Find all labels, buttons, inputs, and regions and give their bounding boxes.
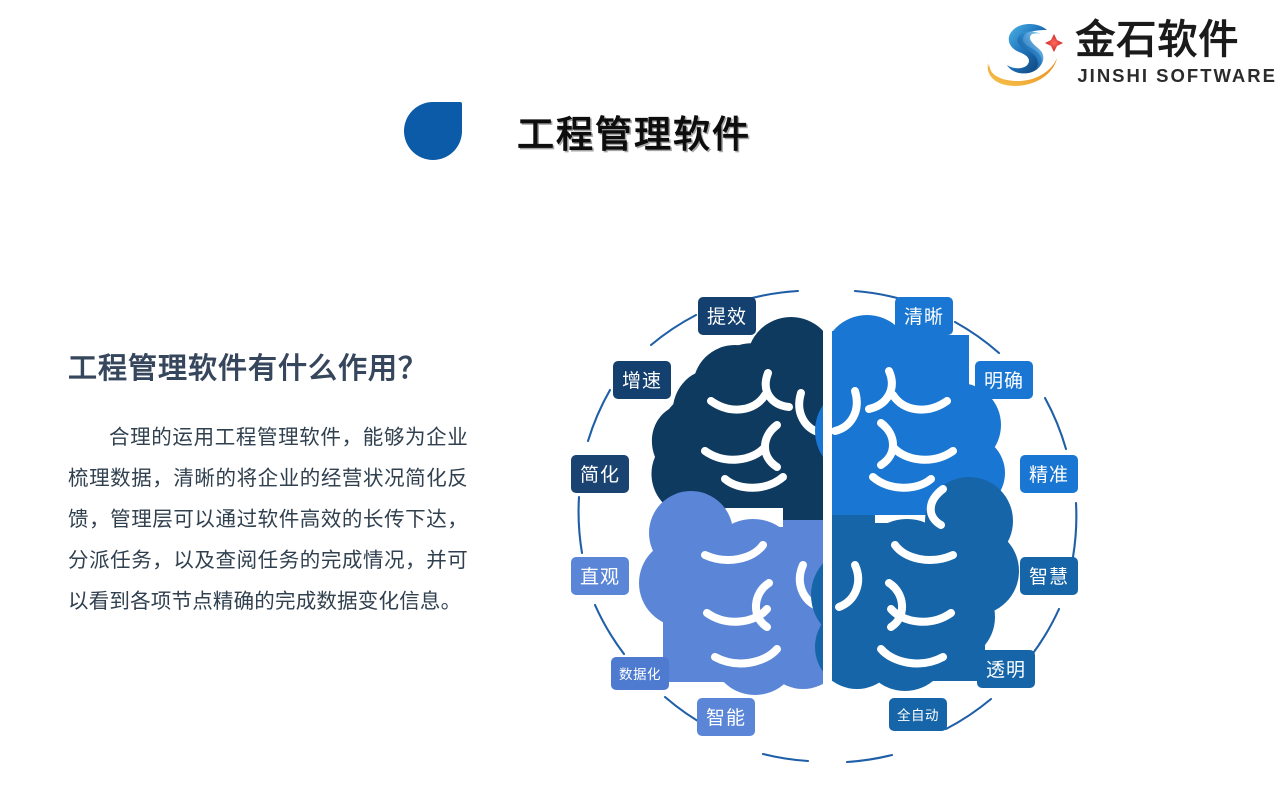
diagram-node-quanzidong[interactable]: 全自动 (889, 698, 947, 731)
copy-block: 工程管理软件有什么作用？ 合理的运用工程管理软件，能够为企业梳理数据，清晰的将企… (68, 345, 468, 622)
diagram-node-zengsu[interactable]: 增速 (613, 361, 671, 399)
diagram-node-shujuhua[interactable]: 数据化 (611, 657, 669, 690)
page-title-row: 工程管理软件 (404, 102, 751, 160)
brain-benefits-diagram: 提效 增速 简化 直观 数据化 智能 清晰 明确 精准 智慧 透明 全自动 (555, 265, 1100, 785)
section-body: 合理的运用工程管理软件，能够为企业梳理数据，清晰的将企业的经营状况简化反馈，管理… (68, 417, 468, 622)
diagram-node-qingxi[interactable]: 清晰 (895, 297, 953, 335)
diagram-node-zhihui[interactable]: 智慧 (1020, 557, 1078, 595)
diagram-node-mingque[interactable]: 明确 (975, 361, 1033, 399)
brand-name-en: JINSHI SOFTWARE (1077, 67, 1277, 86)
brain-icon (639, 315, 1019, 695)
diagram-node-tixiao[interactable]: 提效 (698, 297, 756, 335)
teardrop-blob-icon (404, 102, 462, 160)
diagram-node-zhiguan[interactable]: 直观 (571, 557, 629, 595)
diagram-node-jingzhun[interactable]: 精准 (1020, 455, 1078, 493)
section-heading: 工程管理软件有什么作用？ (68, 345, 468, 387)
brand-name-cn: 金石软件 (1075, 20, 1239, 60)
brain-diagram-svg (555, 265, 1100, 785)
diagram-node-zhineng[interactable]: 智能 (697, 698, 755, 736)
jinshi-s-swoosh-logo-icon (981, 14, 1067, 92)
brand-logo: 金石软件 JINSHI SOFTWARE (981, 14, 1277, 92)
diagram-node-jianhua[interactable]: 简化 (571, 455, 629, 493)
page-title: 工程管理软件 (517, 104, 751, 158)
diagram-node-touming[interactable]: 透明 (977, 650, 1035, 688)
brand-text: 金石软件 JINSHI SOFTWARE (1075, 20, 1277, 86)
